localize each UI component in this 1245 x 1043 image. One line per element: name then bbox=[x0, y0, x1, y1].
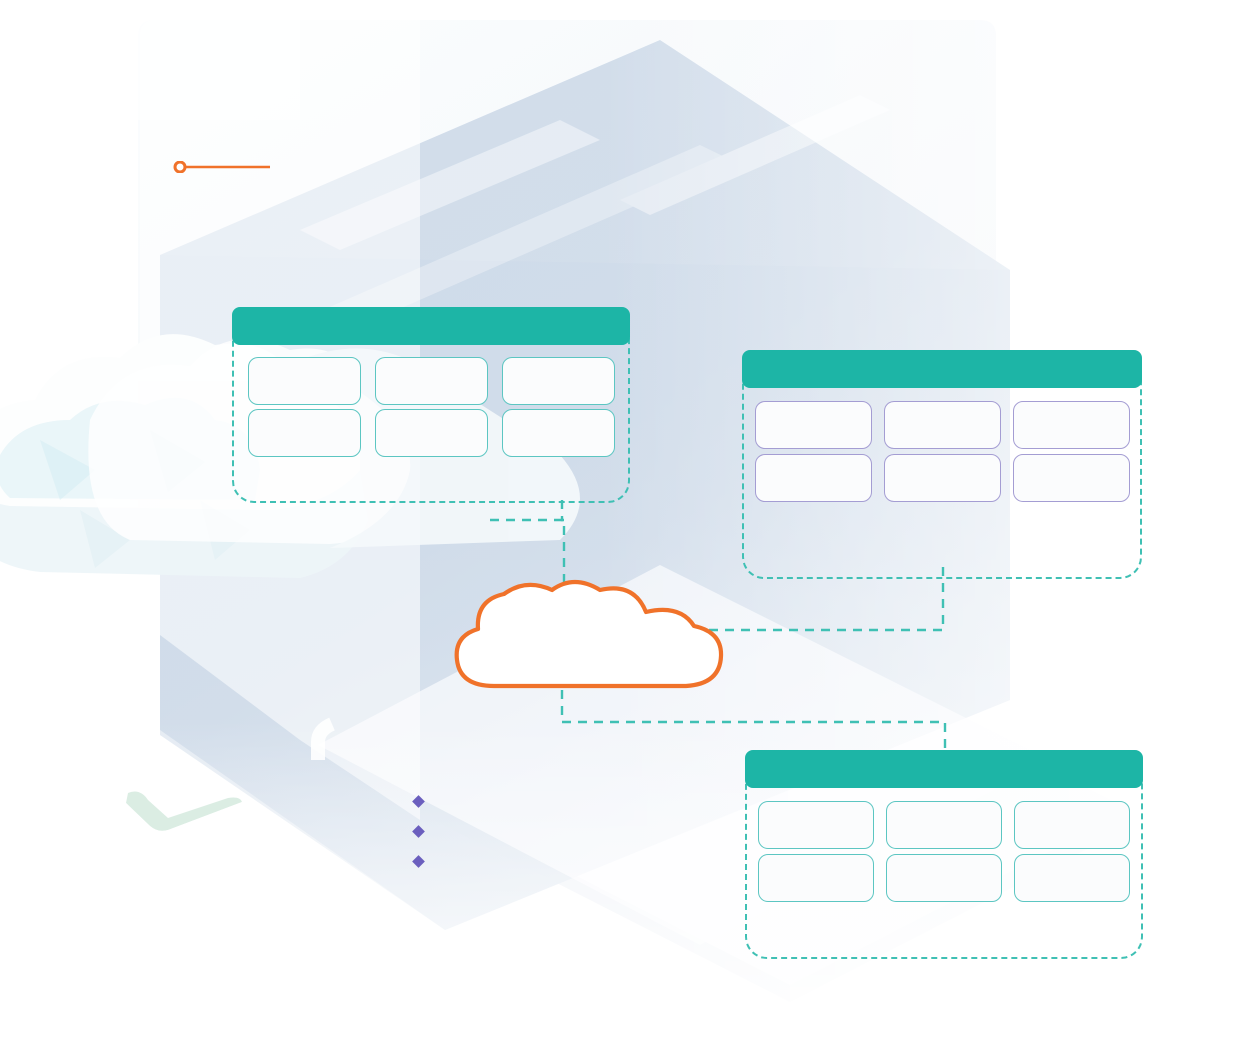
bullet-item bbox=[414, 788, 436, 814]
module-zhuyuan-guanli[interactable] bbox=[375, 409, 488, 457]
module-zhikong-tongji-shangbao[interactable] bbox=[502, 409, 615, 457]
panel-community-header bbox=[742, 350, 1142, 388]
panel-family-grid bbox=[745, 788, 1143, 904]
module-xueya-xuetang-guanli[interactable] bbox=[1013, 454, 1130, 502]
module-jujia-jiankang-guanli[interactable] bbox=[884, 454, 1001, 502]
module-funiu-baojian-shuju-luru[interactable] bbox=[1014, 801, 1130, 849]
module-yimiao-jiezhong[interactable] bbox=[884, 401, 1001, 449]
module-jiating-fangshi-zhiyin[interactable] bbox=[886, 801, 1002, 849]
cloud-shape-icon bbox=[448, 578, 728, 693]
connector-cloud-to-family bbox=[562, 690, 945, 752]
module-quanyu-funiu-shuju-jiankong[interactable] bbox=[248, 357, 361, 405]
module-liangai-shaicha[interactable] bbox=[375, 357, 488, 405]
bullet-item bbox=[414, 848, 436, 874]
cloud-obcloud bbox=[448, 578, 728, 693]
diamond-bullet-icon bbox=[412, 855, 425, 868]
connector-hospital-to-cloud bbox=[562, 500, 564, 520]
panel-family-header bbox=[745, 750, 1143, 788]
module-keyan-wenjuan[interactable] bbox=[755, 454, 872, 502]
module-yingyang-fudao[interactable] bbox=[1014, 854, 1130, 902]
diamond-bullet-icon bbox=[412, 825, 425, 838]
poster-canvas bbox=[0, 0, 1245, 1043]
module-zhishi-xuanjiao[interactable] bbox=[758, 854, 874, 902]
feature-bullet-list bbox=[414, 788, 436, 878]
diamond-bullet-icon bbox=[412, 795, 425, 808]
panel-hospital-header bbox=[232, 307, 630, 345]
module-xuanjiao-suifang[interactable] bbox=[502, 357, 615, 405]
module-xinli-zixun[interactable] bbox=[886, 854, 1002, 902]
header-rule-icon bbox=[172, 161, 272, 173]
module-funiu-jiance[interactable] bbox=[755, 401, 872, 449]
panel-hospital-grid bbox=[232, 345, 630, 459]
module-shangmen-fangshi[interactable] bbox=[1013, 401, 1130, 449]
bullet-item bbox=[414, 818, 436, 844]
module-qianyue-guanli[interactable] bbox=[758, 801, 874, 849]
module-gaowei-zhuanan-guanli[interactable] bbox=[248, 409, 361, 457]
panel-community-grid bbox=[742, 388, 1142, 504]
